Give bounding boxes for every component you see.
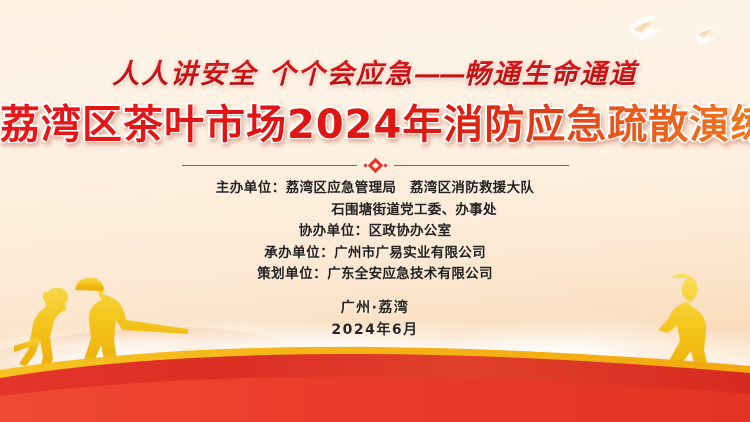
poster-content: 人人讲安全 个个会应急——畅通生命通道 荔湾区茶叶市场2024年消防应急疏散演练… [0,0,750,422]
ornament-divider [0,160,750,171]
divider-diamond-icon [367,158,383,174]
place-text: 广州·荔湾 [0,297,750,319]
organizer-label: 协办单位： [299,223,369,239]
organizer-value: 广州市广易实业有限公司 [334,245,486,261]
date-text: 2024年6月 [0,319,750,341]
divider-ornament [357,160,394,171]
organizer-value: 石围塘街道党工委、办事处 [331,202,497,218]
place-date-block: 广州·荔湾 2024年6月 [0,297,750,341]
organizer-line: 主办单位：荔湾区应急管理局 荔湾区消防救援大队 [0,178,750,200]
organizer-value: 广东全安应急技术有限公司 [327,266,493,282]
organizer-label: 策划单位： [257,266,327,282]
organizer-line: 承办单位：广州市广易实业有限公司 [0,243,750,265]
organizer-value: 区政协办公室 [369,223,452,239]
divider-line-left [182,165,357,167]
organizer-line: 策划单位：广东全安应急技术有限公司 [0,264,750,286]
organizer-label: 主办单位： [216,180,286,196]
poster-banner: 人人讲安全 个个会应急——畅通生命通道 荔湾区茶叶市场2024年消防应急疏散演练… [0,0,750,422]
subtitle-dash: —— [414,59,464,90]
subtitle-part-2: 畅通生命通道 [464,59,638,90]
organizer-block: 主办单位：荔湾区应急管理局 荔湾区消防救援大队 石围塘街道党工委、办事处 协办单… [0,178,750,286]
divider-line-right [394,165,569,167]
organizer-label: 承办单位： [264,245,334,261]
poster-subtitle: 人人讲安全 个个会应急——畅通生命通道 [0,52,750,91]
divider-dot-left [363,163,367,167]
divider-dot-right [383,163,387,167]
organizer-value: 荔湾区应急管理局 荔湾区消防救援大队 [286,180,534,196]
organizer-line: 石围塘街道党工委、办事处 [0,200,750,222]
main-title-text: 荔湾区茶叶市场2024年消防应急疏散演练 [0,100,750,150]
subtitle-part-1: 人人讲安全 个个会应急 [112,59,413,90]
poster-main-title: 荔湾区茶叶市场2024年消防应急疏散演练 [0,100,750,150]
organizer-line: 协办单位：区政协办公室 [0,221,750,243]
